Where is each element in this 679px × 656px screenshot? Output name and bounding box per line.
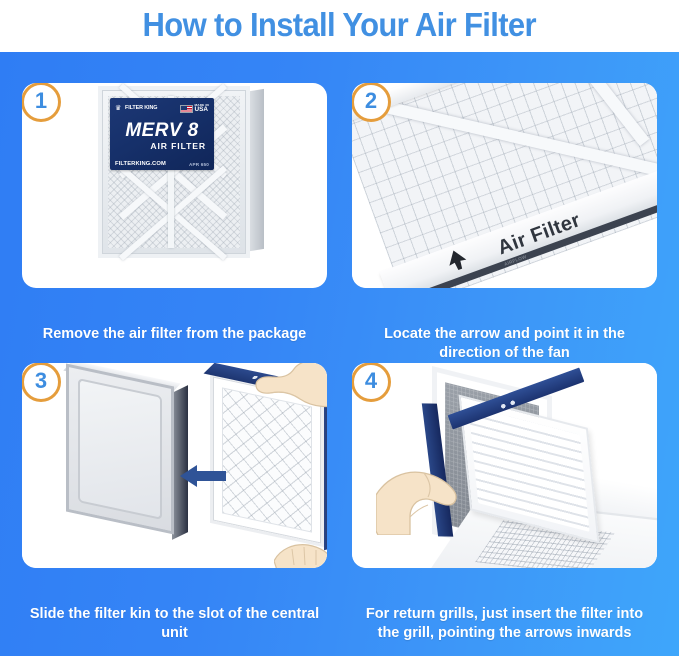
brand-website: FILTERKING.COM	[115, 161, 166, 167]
filter-front-face: ♛ FILTER KING MADE IN USA	[98, 86, 250, 258]
hand-holding-filter	[250, 363, 327, 423]
header-band: How to Install Your Air Filter	[0, 0, 679, 52]
step-badge-2: 2	[352, 83, 391, 122]
step-caption-3: Slide the filter kin to the slot of the …	[22, 605, 327, 643]
usa-flag-icon	[180, 105, 193, 113]
brand-lockup: ♛ FILTER KING	[115, 105, 157, 113]
grille-louvers	[468, 406, 589, 532]
step-3-card: 3	[22, 363, 327, 568]
step-1-card: ♛ FILTER KING MADE IN USA	[22, 83, 327, 288]
crown-icon: ♛	[115, 105, 123, 113]
step-panel-1: ♛ FILTER KING MADE IN USA	[22, 83, 327, 288]
step-badge-4: 4	[352, 363, 391, 402]
page-title: How to Install Your Air Filter	[143, 8, 536, 44]
air-filter-product-image: ♛ FILTER KING MADE IN USA	[98, 86, 264, 258]
filter-body-tilted: Air Filter AIRFLOW	[352, 83, 657, 288]
step-caption-1: Remove the air filter from the package	[22, 325, 327, 344]
label-top-row: ♛ FILTER KING MADE IN USA	[115, 102, 209, 115]
left-insertion-arrow-icon	[180, 463, 226, 489]
step-caption-2: Locate the arrow and point it in the dir…	[352, 325, 657, 363]
step-caption-4: For return grills, just insert the filte…	[352, 605, 657, 643]
filter-edge-photo: Air Filter AIRFLOW	[352, 83, 657, 288]
product-type: AIR FILTER	[115, 141, 209, 151]
step-panel-4: 4 For return grills, just insert the fil…	[352, 363, 657, 568]
filter-product-label: ♛ FILTER KING MADE IN USA	[110, 98, 214, 170]
merv-rating: MERV 8	[115, 121, 209, 140]
apr-standard: APR 650	[189, 162, 209, 167]
steps-background: ♛ FILTER KING MADE IN USA	[0, 52, 679, 656]
filter-depth-side	[250, 89, 264, 251]
step-badge-1: 1	[22, 83, 61, 122]
central-unit-face	[66, 364, 174, 535]
step-number-4: 4	[365, 370, 377, 394]
step-2-card: Air Filter AIRFLOW 2	[352, 83, 657, 288]
step-number-3: 3	[35, 370, 47, 394]
central-unit-slot	[78, 378, 162, 520]
return-grille-illustration	[352, 363, 657, 568]
origin-badge: MADE IN USA	[195, 104, 209, 114]
step-number-1: 1	[35, 90, 47, 114]
hand-inserting-filter	[376, 455, 476, 535]
slide-filter-illustration	[22, 363, 327, 568]
step-4-card: 4	[352, 363, 657, 568]
origin-badge-text: USA	[195, 106, 209, 113]
step-badge-3: 3	[22, 363, 61, 402]
step-number-2: 2	[365, 90, 377, 114]
origin-lockup: MADE IN USA	[180, 104, 209, 114]
brand-name: FILTER KING	[125, 106, 157, 112]
infographic-root: How to Install Your Air Filter	[0, 0, 679, 656]
label-bottom-row: FILTERKING.COM APR 650	[115, 161, 209, 167]
step-panel-3: 3 Slide the filter kin to the slot of th…	[22, 363, 327, 568]
hand-supporting-filter	[274, 531, 327, 568]
step-panel-2: Air Filter AIRFLOW 2 Locate the arrow an…	[352, 83, 657, 288]
